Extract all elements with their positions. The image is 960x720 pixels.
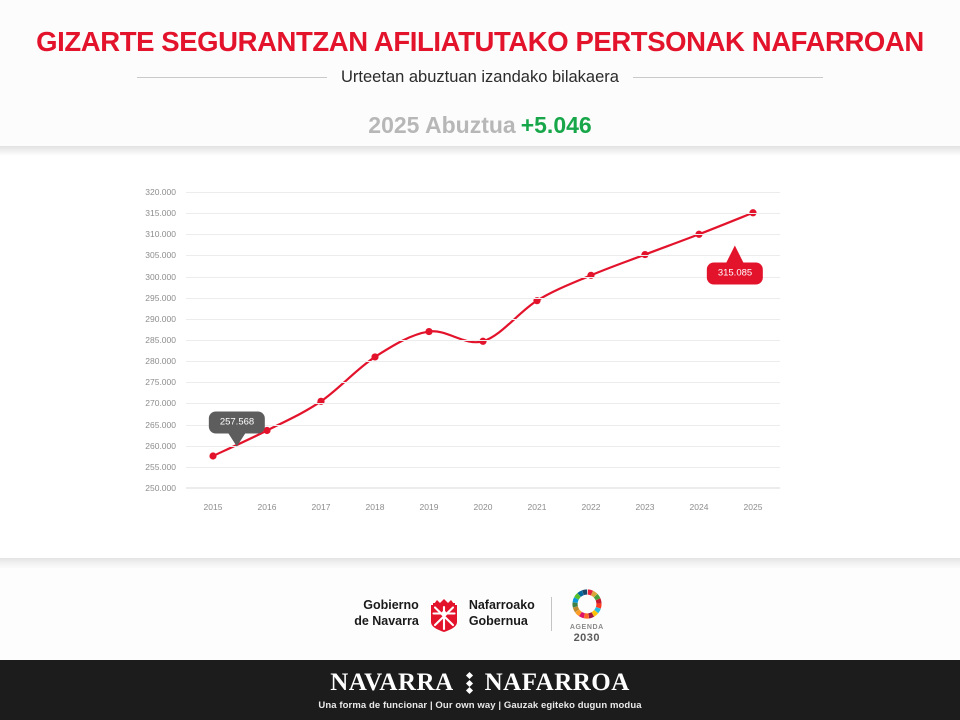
gobierno-de-navarra-logo: Gobierno de Navarra [354, 596, 535, 632]
y-axis-tick-label: 305.000 [145, 250, 176, 260]
header: GIZARTE SEGURANTZAN AFILIATUTAKO PERTSON… [0, 0, 960, 150]
x-axis-tick-label: 2018 [366, 502, 385, 512]
panel-bottom-band [0, 558, 960, 568]
series-line [213, 213, 753, 456]
data-point-marker[interactable] [371, 353, 378, 360]
gov-text-es: Gobierno de Navarra [354, 598, 419, 629]
y-axis-tick-label: 300.000 [145, 272, 176, 282]
gridline [186, 234, 780, 235]
data-point-marker[interactable] [209, 452, 216, 459]
gridline [186, 446, 780, 447]
data-point-marker[interactable] [425, 328, 432, 335]
brand-name-es: NAVARRA [330, 669, 453, 697]
gov-line2-es: de Navarra [354, 614, 419, 630]
agenda-label: AGENDA [570, 624, 604, 631]
x-axis-tick-label: 2023 [636, 502, 655, 512]
brand-name-eu: NAFARROA [485, 669, 630, 697]
data-label-text: 315.085 [718, 267, 752, 278]
gridline [186, 340, 780, 341]
kpi-period-label: 2025 Abuztua [368, 112, 515, 138]
y-axis-tick-label: 290.000 [145, 314, 176, 324]
gridline [186, 277, 780, 278]
x-axis-tick-label: 2021 [528, 502, 547, 512]
data-point-marker[interactable] [479, 338, 486, 345]
y-axis-tick-label: 275.000 [145, 377, 176, 387]
data-label-callout: 257.568 [209, 411, 265, 434]
sdg-wheel-icon [568, 585, 606, 623]
gridline [186, 467, 780, 468]
x-axis-tick-label: 2025 [744, 502, 763, 512]
y-axis-tick-label: 295.000 [145, 293, 176, 303]
line-chart-plot-area: 320.000315.000310.000305.000300.000295.0… [186, 192, 780, 488]
x-axis-tick-label: 2015 [204, 502, 223, 512]
y-axis-tick-label: 270.000 [145, 398, 176, 408]
gridline [186, 298, 780, 299]
gridline [186, 425, 780, 426]
brand-dots-icon [467, 673, 472, 693]
subtitle-row: Urteetan abuztuan izandako bilakaera [0, 68, 960, 87]
page-subtitle: Urteetan abuztuan izandako bilakaera [341, 68, 619, 87]
logo-separator [551, 597, 552, 631]
y-axis-tick-label: 310.000 [145, 229, 176, 239]
gridline [186, 192, 780, 193]
navarra-coat-of-arms-icon [428, 596, 460, 632]
data-point-marker[interactable] [587, 272, 594, 279]
subtitle-rule-right [633, 77, 823, 78]
y-axis-tick-label: 285.000 [145, 335, 176, 345]
x-axis-tick-label: 2017 [312, 502, 331, 512]
gridline [186, 361, 780, 362]
callout-tail [228, 433, 246, 447]
y-axis-tick-label: 280.000 [145, 356, 176, 366]
brand-wordmark: NAVARRA NAFARROA [330, 669, 630, 697]
slide-root: GIZARTE SEGURANTZAN AFILIATUTAKO PERTSON… [0, 0, 960, 720]
x-axis-tick-label: 2019 [420, 502, 439, 512]
x-axis-tick-label: 2024 [690, 502, 709, 512]
kpi-row: 2025 Abuztua+5.046 [0, 112, 960, 139]
footer-logos: Gobierno de Navarra [0, 568, 960, 660]
header-divider-band [0, 146, 960, 156]
gridline [186, 382, 780, 383]
gridline [186, 488, 780, 489]
gridline [186, 403, 780, 404]
subtitle-rule-left [137, 77, 327, 78]
kpi-delta-value: +5.046 [521, 112, 592, 138]
chart-panel: 320.000315.000310.000305.000300.000295.0… [0, 156, 960, 560]
callout-tail [726, 245, 744, 263]
y-axis-tick-label: 265.000 [145, 420, 176, 430]
y-axis-tick-label: 315.000 [145, 208, 176, 218]
y-axis-tick-label: 255.000 [145, 462, 176, 472]
gov-line2-eu: Gobernua [469, 614, 535, 630]
gridline [186, 319, 780, 320]
y-axis-tick-label: 320.000 [145, 187, 176, 197]
brand-bottom-bar: NAVARRA NAFARROA Una forma de funcionar … [0, 660, 960, 720]
gov-line1-es: Gobierno [354, 598, 419, 614]
y-axis-tick-label: 260.000 [145, 441, 176, 451]
x-axis-tick-label: 2020 [474, 502, 493, 512]
page-title: GIZARTE SEGURANTZAN AFILIATUTAKO PERTSON… [0, 26, 960, 58]
gov-text-eu: Nafarroako Gobernua [469, 598, 535, 629]
agenda-year: 2030 [574, 632, 600, 644]
x-axis-tick-label: 2022 [582, 502, 601, 512]
gov-line1-eu: Nafarroako [469, 598, 535, 614]
x-axis-tick-label: 2016 [258, 502, 277, 512]
data-label-text: 257.568 [220, 416, 254, 427]
gridline [186, 213, 780, 214]
data-label-callout: 315.085 [707, 262, 763, 285]
brand-tagline: Una forma de funcionar | Our own way | G… [318, 700, 641, 711]
agenda-2030-logo: AGENDA 2030 [568, 585, 606, 644]
y-axis-tick-label: 250.000 [145, 483, 176, 493]
gridline [186, 255, 780, 256]
